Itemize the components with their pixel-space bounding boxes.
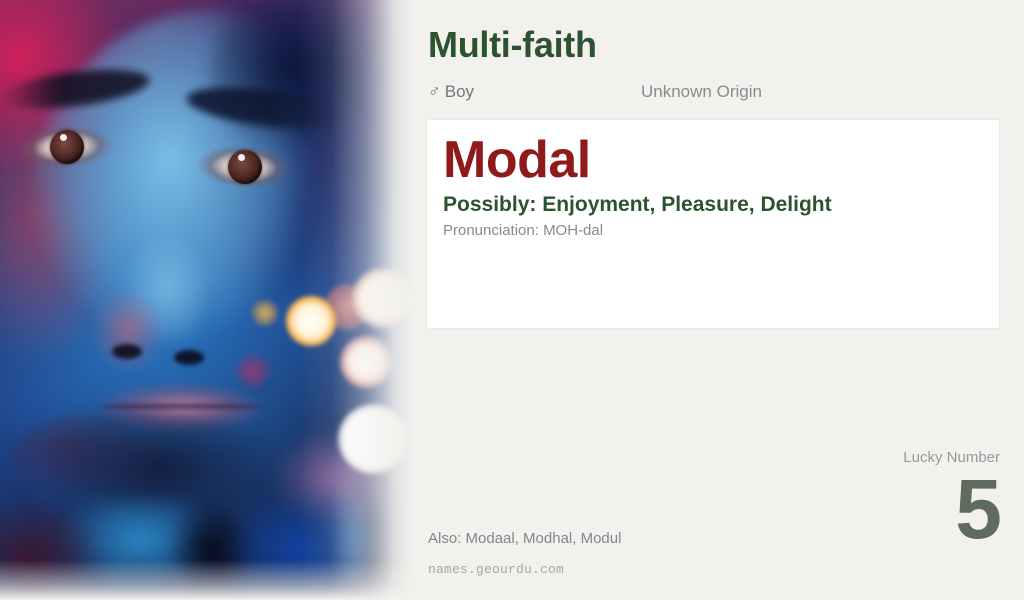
page-title: Multi-faith <box>428 24 597 66</box>
name-card-content: Modal Possibly: Enjoyment, Pleasure, Del… <box>427 120 999 240</box>
alternate-spellings: Also: Modaal, Modhal, Modul <box>428 530 621 547</box>
name-heading: Modal <box>443 132 983 188</box>
photo-bokeh-light <box>236 354 270 388</box>
name-meaning: Possibly: Enjoyment, Pleasure, Delight <box>443 192 983 217</box>
portrait-photo <box>0 0 412 600</box>
photo-iris-right <box>228 150 262 184</box>
photo-bottom-fade <box>0 560 412 600</box>
gender-label: ♂Boy <box>428 82 474 102</box>
source-url: names.geourdu.com <box>428 562 564 577</box>
name-meta-row: ♂Boy Unknown Origin <box>428 82 1008 108</box>
photo-right-fade <box>300 0 412 600</box>
origin-label: Unknown Origin <box>641 82 762 102</box>
name-pronunciation: Pronunciation: MOH-dal <box>443 222 983 240</box>
photo-nostril-left <box>112 344 142 359</box>
name-info-panel: Multi-faith ♂Boy Unknown Origin Modal Po… <box>412 0 1024 600</box>
lucky-number-block: Lucky Number 5 <box>750 450 1000 548</box>
photo-bokeh-light <box>252 300 278 326</box>
photo-eye-glint-left <box>60 134 67 141</box>
name-card: Modal Possibly: Enjoyment, Pleasure, Del… <box>426 119 1000 329</box>
gender-text: Boy <box>445 82 474 101</box>
male-gender-icon: ♂ <box>428 82 441 101</box>
name-detail-page: Multi-faith ♂Boy Unknown Origin Modal Po… <box>0 0 1024 600</box>
photo-iris-left <box>50 130 84 164</box>
photo-eye-glint-right <box>238 154 245 161</box>
lucky-number-value: 5 <box>750 471 1000 548</box>
photo-nostril-right <box>174 350 204 365</box>
